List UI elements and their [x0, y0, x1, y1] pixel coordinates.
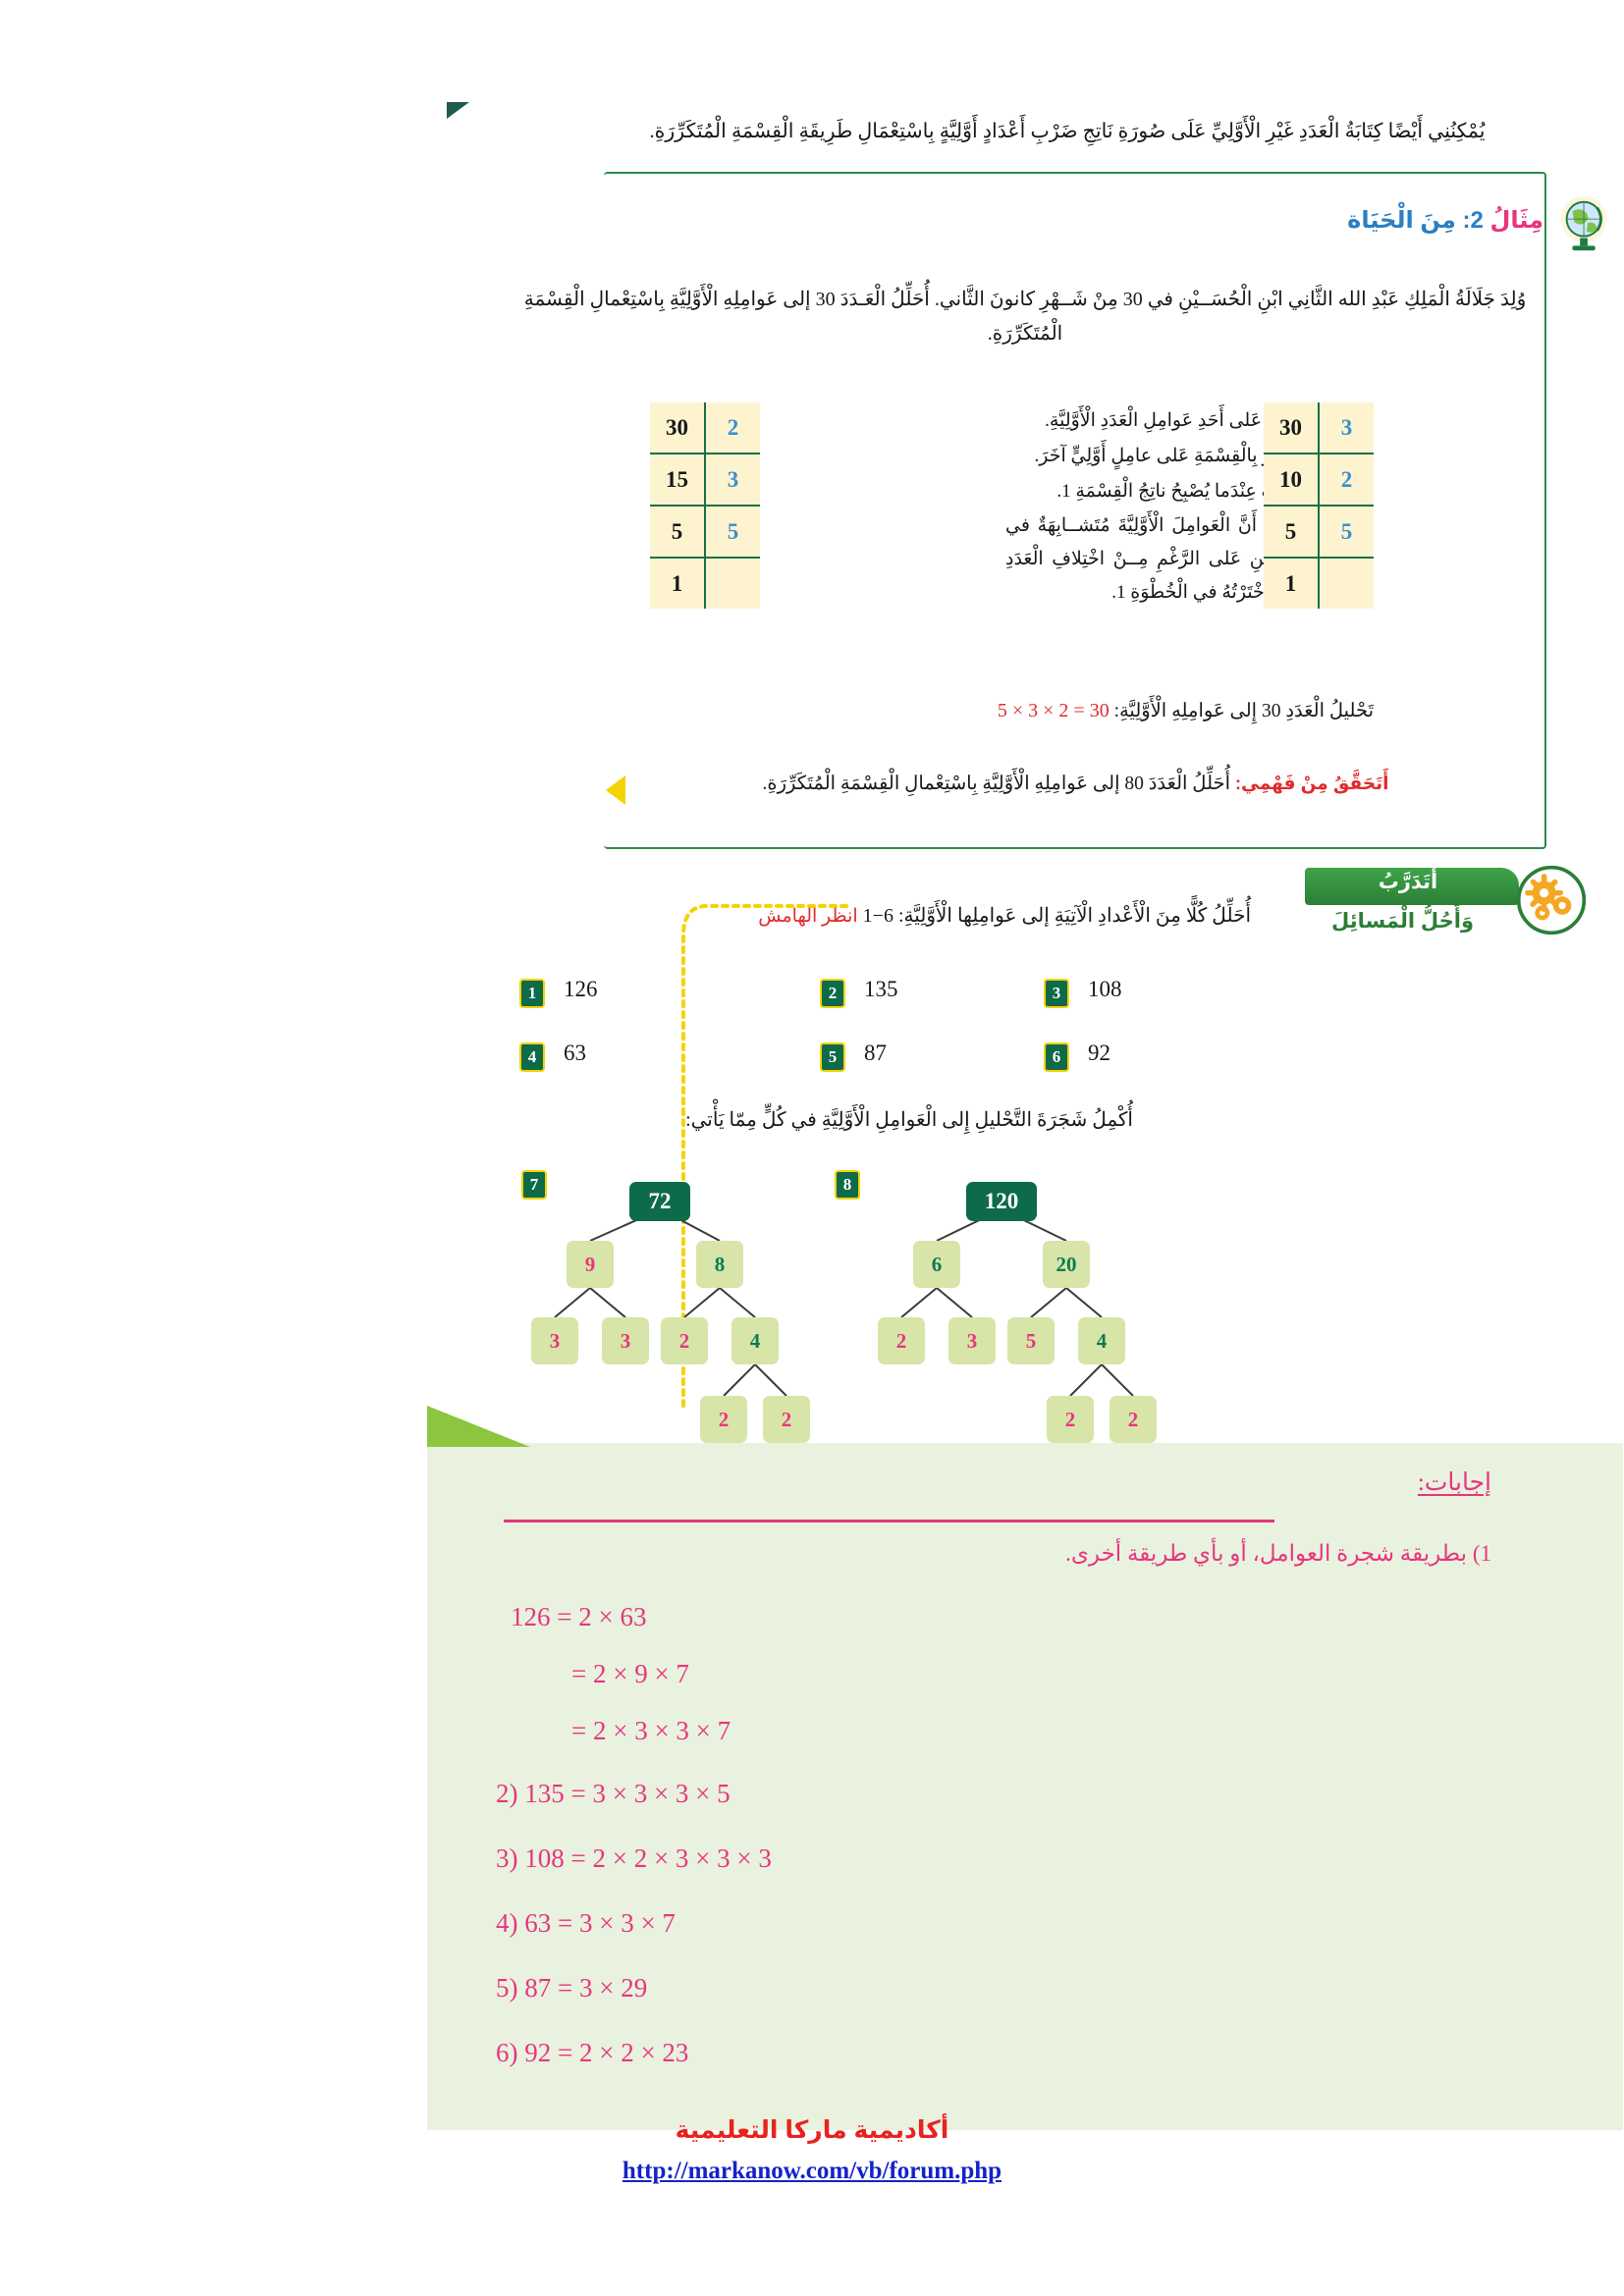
answer-equation-4: 4) 63 = 3 × 3 × 7	[496, 1908, 676, 1939]
factor-tree-7-node-l1-0[interactable]: 9	[567, 1241, 614, 1288]
quotient-cell: 30	[650, 402, 705, 454]
exercise-badge-4[interactable]: 4	[519, 1042, 545, 1072]
example-number: 2	[1470, 207, 1483, 234]
quotient-cell: 15	[650, 454, 705, 506]
exercise-badge-6[interactable]: 6	[1044, 1042, 1069, 1072]
example-label: مِثَالُ	[1490, 207, 1544, 234]
quotient-cell: 30	[1264, 402, 1319, 454]
table-row: 5 5	[650, 506, 760, 558]
exercise-margin-hint: انظر الهامش	[758, 906, 857, 927]
table-row: 3 15	[650, 454, 760, 506]
divisor-cell: 5	[1319, 506, 1374, 558]
globe-icon	[1555, 194, 1616, 255]
divisor-cell: 2	[1319, 454, 1374, 506]
answers-divider	[504, 1520, 1274, 1522]
quotient-cell: 1	[650, 558, 705, 609]
answer-equation-2: 2) 135 = 3 × 3 × 3 × 5	[496, 1779, 731, 1809]
exercise-value-3: 108	[1088, 977, 1122, 1002]
divisor-cell: 3	[1319, 402, 1374, 454]
quotient-cell: 10	[1264, 454, 1319, 506]
practice-sub-label: وَأَحُلُّ الْمَسائِلَ	[1302, 909, 1503, 934]
result-value: 30 = 2 × 3 × 5	[998, 700, 1110, 721]
table-row: 1	[1264, 558, 1374, 609]
answer-equation-6: 6) 92 = 2 × 2 × 23	[496, 2038, 688, 2068]
gears-icon	[1515, 864, 1588, 936]
result-label: تَحْليلُ الْعَدَدِ 30 إِلى عَوامِلِهِ ال…	[1114, 701, 1374, 721]
quotient-cell: 5	[650, 506, 705, 558]
factor-tree-7-node-l2-1[interactable]: 3	[602, 1317, 649, 1364]
answer-equation-1c: = 2 × 3 × 3 × 7	[571, 1716, 731, 1746]
example-subtitle: : مِنَ الْحَيَاة	[1347, 207, 1470, 234]
example-paragraph: وُلِدَ جَلَالَةُ الْمَلِكِ عَبْدِ الله ا…	[519, 283, 1531, 351]
division-ladder-right: 3 30 2 10 5 5 1	[1264, 402, 1374, 609]
answer-equation-3: 3) 108 = 2 × 2 × 3 × 3 × 3	[496, 1843, 772, 1874]
table-row: 3 30	[1264, 402, 1374, 454]
check-understanding-row: أَتَحَقَّقُ مِنْ فَهْمِي: أُحَلِّلُ الْع…	[621, 769, 1531, 799]
practice-banner: أَتَدَرَّبُ وَأَحُلُّ الْمَسائِلَ	[1226, 862, 1580, 952]
table-row: 2 30	[650, 402, 760, 454]
exercise-value-5: 87	[864, 1041, 887, 1066]
factor-tree-instruction: أُكْمِلُ شَجَرَةَ التَّحْليلِ إِلى الْعَ…	[685, 1107, 1133, 1132]
check-understanding-label: أَتَحَقَّقُ مِنْ فَهْمِي:	[1235, 773, 1389, 793]
factor-tree-8-node-l3-0[interactable]: 2	[1047, 1396, 1094, 1443]
factor-tree-7-node-l3-0[interactable]: 2	[700, 1396, 747, 1443]
divisor-cell	[1319, 558, 1374, 609]
factor-tree-8-node-l3-1[interactable]: 2	[1110, 1396, 1157, 1443]
factor-tree-7-node-l2-0[interactable]: 3	[531, 1317, 578, 1364]
division-ladder-left: 2 30 3 15 5 5 1	[650, 402, 760, 609]
answer-equation-1b: = 2 × 9 × 7	[571, 1659, 689, 1689]
check-understanding-text: أُحَلِّلُ الْعَدَدَ 80 إلى عَوامِلِهِ ال…	[763, 774, 1231, 794]
textbook-page: يُمْكِنُنِي أَيْضًا كِتَابَةُ الْعَدَدِ …	[0, 0, 1624, 2296]
divisor-cell: 3	[705, 454, 760, 506]
exercise-badge-5[interactable]: 5	[820, 1042, 845, 1072]
exercise-badge-1[interactable]: 1	[519, 979, 545, 1008]
exercise-instruction: أُحَلِّلُ كُلًّا مِنَ الْأَعْدادِ الْآتِ…	[758, 903, 1251, 928]
answers-note: 1) بطريقة شجرة العوامل، أو بأي طريقة أخر…	[1065, 1541, 1491, 1567]
exercise-value-1: 126	[564, 977, 598, 1002]
factor-tree-8-node-l2-2[interactable]: 5	[1007, 1317, 1055, 1364]
green-arrow-icon	[447, 102, 469, 119]
exercise-value-4: 63	[564, 1041, 586, 1066]
factor-tree-8-node-l1-1: 20	[1043, 1241, 1090, 1288]
factor-tree-8-node-l1-0: 6	[913, 1241, 960, 1288]
exercise-badge-2[interactable]: 2	[820, 979, 845, 1008]
factor-tree-7: 7 72 9 8 3 3 2 4 2 2	[515, 1168, 839, 1433]
divisor-cell: 2	[705, 402, 760, 454]
factor-tree-7-node-l2-3: 4	[731, 1317, 779, 1364]
exercise-value-6: 92	[1088, 1041, 1110, 1066]
factor-tree-7-node-l2-2[interactable]: 2	[661, 1317, 708, 1364]
table-row: 1	[650, 558, 760, 609]
answers-title: إجابات:	[1418, 1468, 1491, 1497]
factor-tree-7-node-l1-1: 8	[696, 1241, 743, 1288]
divisor-cell: 5	[705, 506, 760, 558]
answer-equation-5: 5) 87 = 3 × 29	[496, 1973, 647, 2003]
factor-tree-8: 8 120 6 20 2 3 5 4 2 2	[835, 1168, 1168, 1433]
answer-equation-1a: 126 = 2 × 63	[511, 1602, 646, 1632]
factorization-result: تَحْليلُ الْعَدَدِ 30 إِلى عَوامِلِهِ ال…	[998, 699, 1374, 722]
exercise-value-2: 135	[864, 977, 898, 1002]
footer-link[interactable]: http://markanow.com/vb/forum.php	[0, 2158, 1624, 2185]
intro-paragraph: يُمْكِنُنِي أَيْضًا كِتَابَةُ الْعَدَدِ …	[599, 116, 1536, 148]
green-wedge-decoration	[427, 1406, 530, 1447]
example-title: مِثَالُ 2: مِنَ الْحَيَاة	[1347, 206, 1543, 235]
factor-tree-8-node-l2-0[interactable]: 2	[878, 1317, 925, 1364]
exercise-instruction-text: أُحَلِّلُ كُلًّا مِنَ الْأَعْدادِ الْآتِ…	[863, 905, 1251, 927]
factor-tree-8-node-l2-1[interactable]: 3	[948, 1317, 996, 1364]
quotient-cell: 5	[1264, 506, 1319, 558]
table-row: 5 5	[1264, 506, 1374, 558]
footer-academy-title: أكاديمية ماركا التعليمية	[0, 2115, 1624, 2145]
table-row: 2 10	[1264, 454, 1374, 506]
practice-ribbon-label: أَتَدَرَّبُ	[1320, 870, 1496, 894]
exercise-badge-3[interactable]: 3	[1044, 979, 1069, 1008]
factor-tree-7-root: 72	[629, 1182, 690, 1221]
factor-tree-7-node-l3-1[interactable]: 2	[763, 1396, 810, 1443]
factor-tree-8-root: 120	[966, 1182, 1037, 1221]
quotient-cell: 1	[1264, 558, 1319, 609]
factor-tree-8-node-l2-3: 4	[1078, 1317, 1125, 1364]
divisor-cell	[705, 558, 760, 609]
